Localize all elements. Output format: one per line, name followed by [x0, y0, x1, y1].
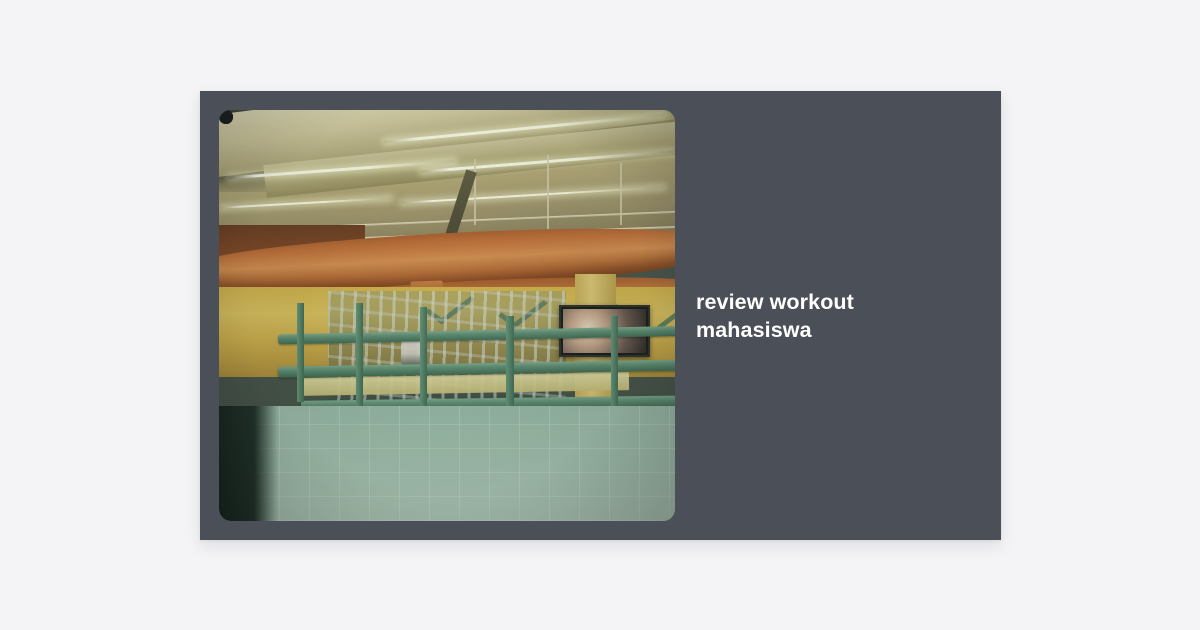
- gym-photo-thumbnail[interactable]: [219, 110, 675, 521]
- photo-canvas: [219, 110, 675, 521]
- media-caption-card[interactable]: review workout mahasiswa: [200, 91, 1001, 540]
- caption-title: review workout mahasiswa: [696, 288, 896, 344]
- photo-highlight-grade: [219, 110, 675, 521]
- caption-column: review workout mahasiswa: [696, 91, 986, 540]
